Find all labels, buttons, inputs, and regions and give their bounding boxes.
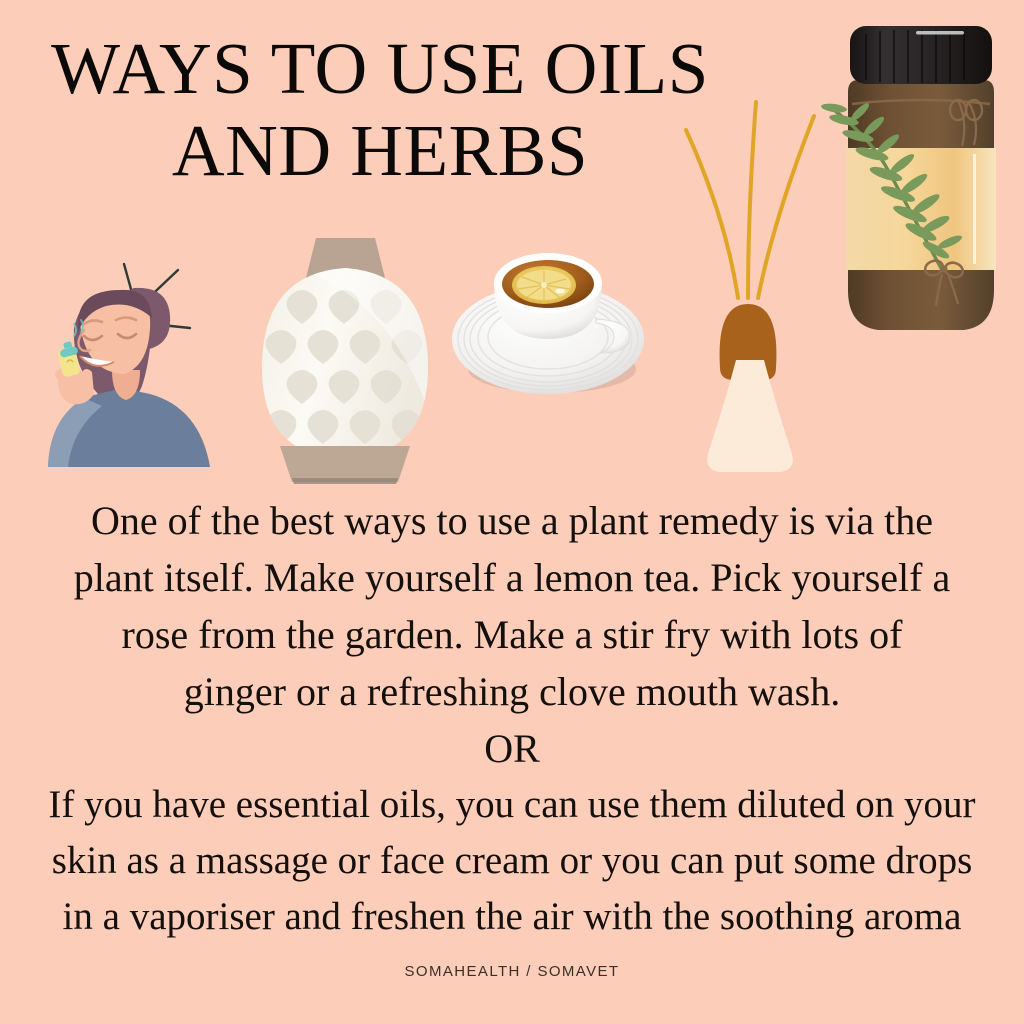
jar-label-highlight	[973, 154, 976, 264]
paragraph1-line-2: plant itself. Make yourself a lemon tea.…	[0, 549, 1024, 606]
herbal-oil-jar-illustration	[818, 18, 1024, 352]
diffuser-base-shadow	[292, 478, 398, 484]
paragraph1-line-3: rose from the garden. Make a stir fry wi…	[0, 606, 1024, 663]
poster-canvas: WAYS TO USE OILS AND HERBS One of the be…	[0, 0, 1024, 1024]
poster-body-text: One of the best ways to use a plant reme…	[0, 492, 1024, 945]
lemon-tea-cup-illustration	[448, 243, 653, 408]
ceramic-diffuser-illustration	[248, 228, 443, 490]
title-line-2: AND HERBS	[0, 110, 760, 192]
poster-title: WAYS TO USE OILS AND HERBS	[0, 28, 760, 193]
footer-credit: SOMAHEALTH / SOMAVET	[0, 963, 1024, 980]
jar-lid-highlight	[916, 31, 964, 35]
lemon-slice	[512, 266, 576, 304]
paragraph1-line-4: ginger or a refreshing clove mouth wash.	[0, 663, 1024, 720]
or-divider: OR	[0, 720, 1024, 777]
title-line-1: WAYS TO USE OILS	[0, 28, 760, 110]
paragraph2-line-2: skin as a massage or face cream or you c…	[0, 833, 1024, 889]
diffuser-base	[280, 446, 410, 482]
reed-diffuser-bottle	[707, 360, 793, 472]
paragraph1-line-1: One of the best ways to use a plant reme…	[0, 492, 1024, 549]
woman-smelling-oil-illustration	[28, 262, 233, 467]
paragraph2-line-3: in a vaporiser and freshen the air with …	[0, 889, 1024, 945]
paragraph2-line-1: If you have essential oils, you can use …	[0, 777, 1024, 833]
